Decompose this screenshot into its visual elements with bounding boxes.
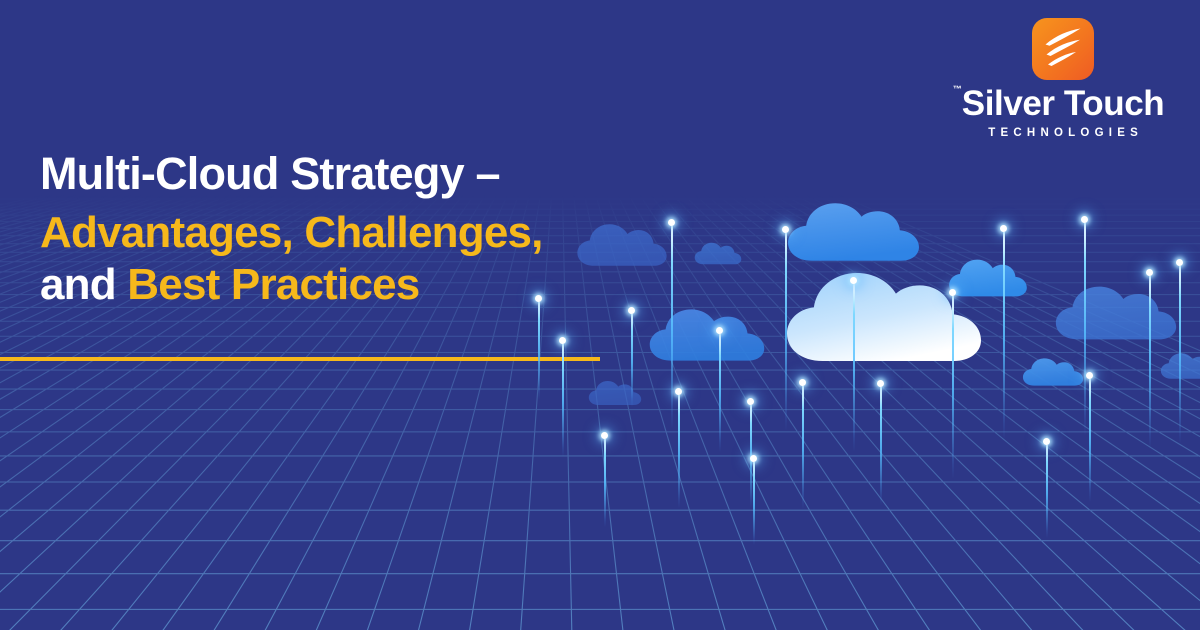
light-beam-icon-beam-06	[677, 388, 680, 508]
brand-logo[interactable]: ™Silver Touch TECHNOLOGIES	[934, 18, 1192, 140]
light-beam-icon-beam-15	[1002, 225, 1005, 440]
light-beam-icon-beam-19	[1178, 259, 1181, 444]
light-beam-icon-beam-02	[561, 337, 564, 457]
beam-shaft	[631, 314, 633, 407]
beam-head-glow	[668, 219, 675, 226]
beam-shaft	[562, 344, 564, 457]
beam-shaft	[853, 284, 855, 452]
cloud-icon-cloud-xs-mid-top	[694, 240, 742, 267]
beam-head-glow	[716, 327, 723, 334]
beam-head-glow	[949, 289, 956, 296]
beam-shaft	[880, 387, 882, 505]
light-beam-icon-beam-20	[1045, 438, 1048, 538]
cloud-icon-cloud-lg-top	[786, 196, 921, 268]
light-beam-icon-beam-17	[1088, 372, 1091, 502]
light-beam-icon-beam-13	[879, 380, 882, 505]
beam-shaft	[719, 334, 721, 452]
beam-shaft	[1089, 379, 1091, 502]
light-beam-icon-beam-05	[670, 219, 673, 429]
light-beam-icon-beam-14	[951, 289, 954, 479]
light-beam-icon-beam-04	[603, 432, 606, 527]
beam-head-glow	[1086, 372, 1093, 379]
beam-shaft	[671, 226, 673, 429]
cloud-icon-cloud-md-right	[1054, 280, 1178, 346]
beam-shaft	[802, 386, 804, 509]
beam-head-glow	[675, 388, 682, 395]
beam-head-glow	[850, 277, 857, 284]
beam-head-glow	[535, 295, 542, 302]
beam-head-glow	[559, 337, 566, 344]
content-layer: Multi-Cloud Strategy – Advantages, Chall…	[0, 0, 1200, 630]
beam-head-glow	[1146, 269, 1153, 276]
cloud-icon-cloud-xs-left-lower	[588, 378, 642, 408]
beam-head-glow	[747, 398, 754, 405]
light-beam-icon-beam-10	[752, 455, 755, 545]
beam-shaft	[1149, 276, 1151, 449]
headline-line-1: Multi-Cloud Strategy –	[40, 148, 680, 201]
beam-head-glow	[1043, 438, 1050, 445]
beam-shaft	[1046, 445, 1048, 538]
light-beam-icon-beam-18	[1148, 269, 1151, 449]
beam-head-glow	[782, 226, 789, 233]
trademark-symbol: ™	[953, 85, 962, 94]
silver-touch-swoosh-mark-icon	[1032, 18, 1094, 80]
beam-shaft	[1084, 223, 1086, 436]
beam-shaft	[1179, 266, 1181, 444]
headline-line-3-prefix: and	[40, 260, 127, 309]
beam-shaft	[753, 462, 755, 545]
beam-head-glow	[750, 455, 757, 462]
accent-rule	[0, 357, 600, 361]
cloud-icon-cloud-xs-right-low	[1022, 355, 1084, 389]
light-beam-icon-beam-09	[784, 226, 787, 431]
beam-shaft	[538, 302, 540, 400]
beam-shaft	[604, 439, 606, 527]
beam-head-glow	[799, 379, 806, 386]
cloud-icon-cloud-md-left	[648, 303, 766, 367]
beam-shaft	[952, 296, 954, 479]
light-beam-icon-beam-11	[852, 277, 855, 452]
beam-shaft	[678, 395, 680, 508]
beam-head-glow	[601, 432, 608, 439]
headline-line-3-highlight: Best Practices	[127, 260, 419, 309]
light-beam-icon-beam-01	[537, 295, 540, 400]
beam-head-glow	[628, 307, 635, 314]
light-beam-icon-beam-03	[630, 307, 633, 407]
light-beam-icon-beam-16	[1083, 216, 1086, 436]
beam-head-glow	[1000, 225, 1007, 232]
logo-wordmark-text: Silver Touch	[962, 84, 1164, 123]
beam-head-glow	[877, 380, 884, 387]
beam-head-glow	[1081, 216, 1088, 223]
beam-head-glow	[1176, 259, 1183, 266]
beam-shaft	[785, 233, 787, 431]
cloud-icon-cloud-hero	[784, 262, 984, 372]
logo-wordmark: ™Silver Touch	[962, 86, 1164, 121]
banner-root: Multi-Cloud Strategy – Advantages, Chall…	[0, 0, 1200, 630]
light-beam-icon-beam-12	[801, 379, 804, 509]
cloud-icon-cloud-sm-left-upper	[576, 219, 668, 271]
beam-shaft	[1003, 232, 1005, 440]
logo-tagline: TECHNOLOGIES	[934, 128, 1192, 140]
light-beam-icon-beam-07	[718, 327, 721, 452]
